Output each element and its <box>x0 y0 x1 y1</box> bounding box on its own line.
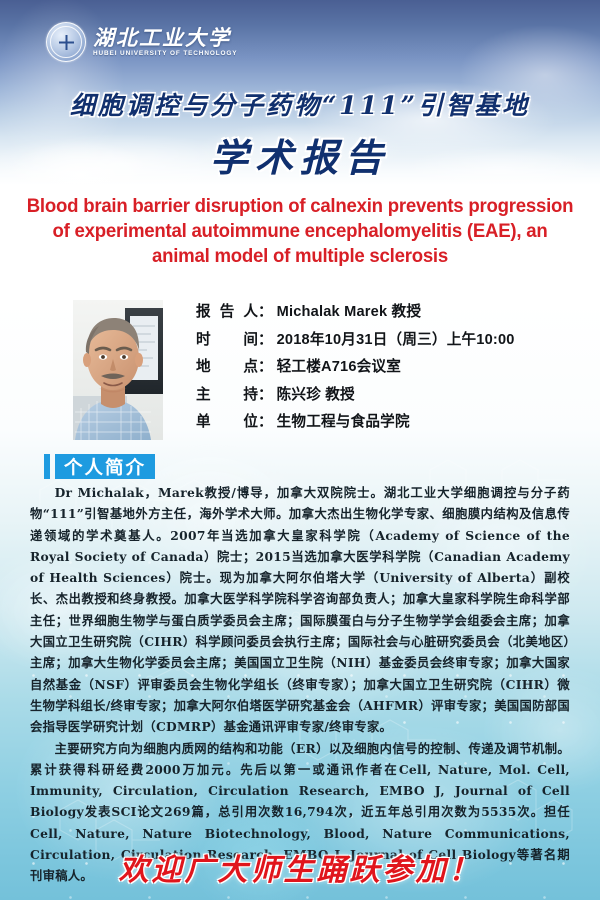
detail-value-organizer: 生物工程与食品学院 <box>277 410 410 431</box>
section-heading-profile: 个人简介 <box>44 454 155 479</box>
profile-paragraph-1: Dr Michalak，Marek教授/博导，加拿大双院院士。湖北工业大学细胞调… <box>30 482 570 738</box>
banner-title: 学术报告 <box>0 127 600 182</box>
poster-root: 湖北工业大学 HUBEI UNIVERSITY OF TECHNOLOGY 细胞… <box>0 0 600 900</box>
header-banner: 湖北工业大学 HUBEI UNIVERSITY OF TECHNOLOGY 细胞… <box>0 0 600 185</box>
welcome-slogan: 欢迎广大师生踊跃参加！ <box>0 845 600 889</box>
detail-label-char-3: 人 <box>243 300 258 321</box>
detail-row-host: 主 持 ： 陈兴珍 教授 <box>196 383 515 411</box>
detail-colon-speaker: ： <box>258 300 273 321</box>
detail-label-organizer: 单 位 <box>196 410 258 431</box>
detail-value-location: 轻工楼A716会议室 <box>277 355 401 376</box>
detail-label-char-2: 告 <box>220 300 235 321</box>
detail-row-speaker: 报 告 人 ： Michalak Marek 教授 <box>196 300 515 328</box>
speaker-portrait-icon <box>73 300 163 440</box>
section-accent-bar-icon <box>44 454 50 479</box>
detail-value-speaker: Michalak Marek 教授 <box>277 300 422 321</box>
detail-label-char-1: 时 <box>196 328 211 349</box>
detail-label-char-1: 主 <box>196 383 211 404</box>
detail-label-speaker: 报 告 人 <box>196 300 258 321</box>
detail-label-char-3: 间 <box>243 328 258 349</box>
lecture-title: Blood brain barrier disruption of calnex… <box>22 194 579 270</box>
detail-label-char-1: 报 <box>196 300 211 321</box>
detail-label-time: 时 间 <box>196 328 258 349</box>
detail-label-char-3: 位 <box>243 410 258 431</box>
detail-label-char-1: 单 <box>196 410 211 431</box>
lecture-details: 报 告 人 ： Michalak Marek 教授 时 间 ： 2018年10月… <box>196 300 515 438</box>
university-logo: 湖北工业大学 HUBEI UNIVERSITY OF TECHNOLOGY <box>46 22 237 62</box>
detail-label-char-3: 持 <box>243 383 258 404</box>
university-seal-icon <box>46 22 86 62</box>
university-logo-text: 湖北工业大学 HUBEI UNIVERSITY OF TECHNOLOGY <box>93 27 237 57</box>
detail-row-organizer: 单 位 ： 生物工程与食品学院 <box>196 410 515 438</box>
detail-colon-time: ： <box>258 328 273 349</box>
detail-colon-organizer: ： <box>258 410 273 431</box>
detail-colon-host: ： <box>258 383 273 404</box>
detail-label-host: 主 持 <box>196 383 258 404</box>
detail-value-host: 陈兴珍 教授 <box>277 383 355 404</box>
detail-row-time: 时 间 ： 2018年10月31日（周三）上午10:00 <box>196 328 515 356</box>
university-name-cn: 湖北工业大学 <box>93 27 237 48</box>
detail-label-char-3: 点 <box>243 355 258 376</box>
detail-label-char-1: 地 <box>196 355 211 376</box>
banner-subtitle: 细胞调控与分子药物“111”引智基地 <box>0 86 600 122</box>
detail-value-time: 2018年10月31日（周三）上午10:00 <box>277 328 515 349</box>
section-heading-label: 个人简介 <box>55 454 155 479</box>
detail-label-location: 地 点 <box>196 355 258 376</box>
university-name-en: HUBEI UNIVERSITY OF TECHNOLOGY <box>93 51 237 57</box>
speaker-photo <box>73 300 163 440</box>
profile-body: Dr Michalak，Marek教授/博导，加拿大双院院士。湖北工业大学细胞调… <box>30 482 570 887</box>
detail-colon-location: ： <box>258 355 273 376</box>
detail-row-location: 地 点 ： 轻工楼A716会议室 <box>196 355 515 383</box>
